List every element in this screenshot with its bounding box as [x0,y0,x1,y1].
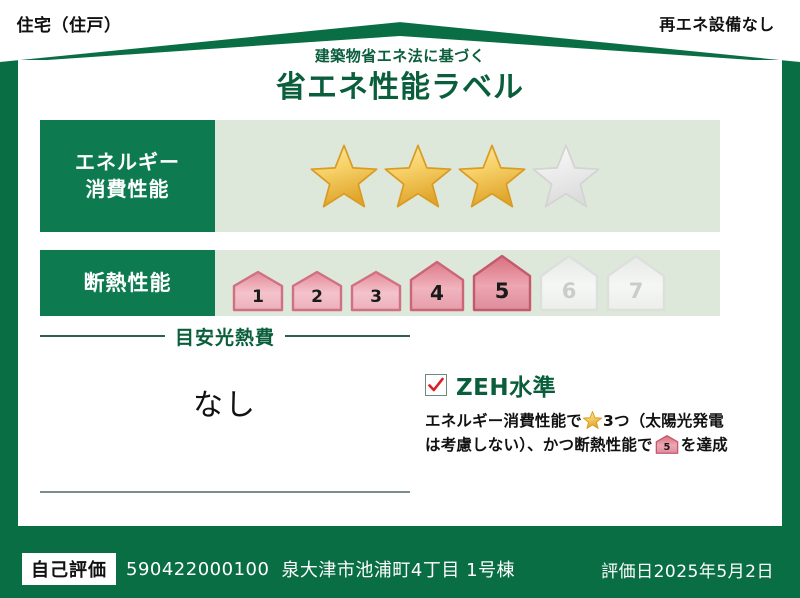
insulation-performance-value: 1 2 3 [215,250,720,316]
divider-right [285,335,410,337]
svg-text:2: 2 [311,287,323,307]
renewable-energy-tag: 再エネ設備なし [642,8,792,38]
star-icon-filled-3 [458,143,526,209]
house-level-5-filled: 5 [471,254,533,312]
utility-cost-bottom-rule [40,491,410,493]
svg-text:1: 1 [252,287,264,307]
zeh-title: ZEH水準 [456,368,556,402]
svg-text:7: 7 [629,279,644,303]
label-footer: 自己評価 590422000100 泉大津市池浦町4丁目 1号棟 評価日2025… [0,540,800,598]
svg-text:5: 5 [663,442,670,453]
house-5-icon-inline: 5 [655,435,679,454]
house-level-7-empty: 7 [605,254,667,312]
svg-text:3: 3 [370,287,382,307]
svg-text:4: 4 [430,281,444,305]
house-level-3-filled: 3 [349,270,403,312]
divider-left [40,335,165,337]
energy-performance-value [215,120,720,232]
insulation-performance-row: 断熱性能 1 2 [40,250,720,316]
utility-cost-heading: 目安光熱費 [40,325,410,347]
zeh-block: ZEH水準 エネルギー消費性能で 3つ（太陽光発電 は考慮しない）、かつ断熱性能… [425,368,755,457]
star-icon-filled-1 [310,143,378,209]
energy-label-line2: 消費性能 [86,176,170,203]
certificate-id: 590422000100 [126,559,269,580]
zeh-desc-part3: は考慮しない）、かつ断熱性能で [425,436,653,454]
property-address: 泉大津市池浦町4丁目 1号棟 [281,556,515,582]
evaluation-date: 評価日2025年5月2日 [601,557,774,582]
zeh-desc-part4: を達成 [681,436,728,454]
house-level-2-filled: 2 [290,270,344,312]
energy-label-line1: エネルギー [75,149,180,176]
star-icon-filled-2 [384,143,452,209]
zeh-heading: ZEH水準 [425,368,755,402]
star-icon-inline [583,411,602,429]
zeh-desc-part2: 3つ（太陽光発電 [603,412,724,430]
check-icon [425,374,447,396]
zeh-description: エネルギー消費性能で 3つ（太陽光発電 は考慮しない）、かつ断熱性能で 5 を達… [425,409,755,457]
insulation-performance-label-box: 断熱性能 [40,250,215,316]
energy-performance-row: エネルギー 消費性能 [40,120,720,232]
star-rating [310,143,600,209]
utility-cost-value: なし [40,380,410,424]
house-level-6-empty: 6 [538,254,600,312]
insulation-level-scale: 1 2 3 [231,254,667,312]
title-subtitle: 建築物省エネ法に基づく [0,46,800,66]
check-glyph [427,376,445,394]
page-title: 省エネ性能ラベル [0,68,800,108]
title-block: 建築物省エネ法に基づく 省エネ性能ラベル [0,46,800,108]
energy-performance-label: 住宅（住戸） 再エネ設備なし 建築物省エネ法に基づく 省エネ性能ラベル エネルギ… [0,0,800,598]
svg-text:6: 6 [562,279,577,303]
utility-cost-heading-text: 目安光熱費 [165,323,285,350]
zeh-desc-part1: エネルギー消費性能で [425,412,582,430]
star-icon-empty-4 [532,143,600,209]
house-level-1-filled: 1 [231,270,285,312]
self-evaluation-badge: 自己評価 [22,553,116,585]
energy-performance-label-box: エネルギー 消費性能 [40,120,215,232]
insulation-label: 断熱性能 [84,270,172,297]
house-level-4-filled: 4 [408,260,466,312]
svg-text:5: 5 [495,279,510,303]
building-type-tag: 住宅（住戸） [8,8,130,38]
